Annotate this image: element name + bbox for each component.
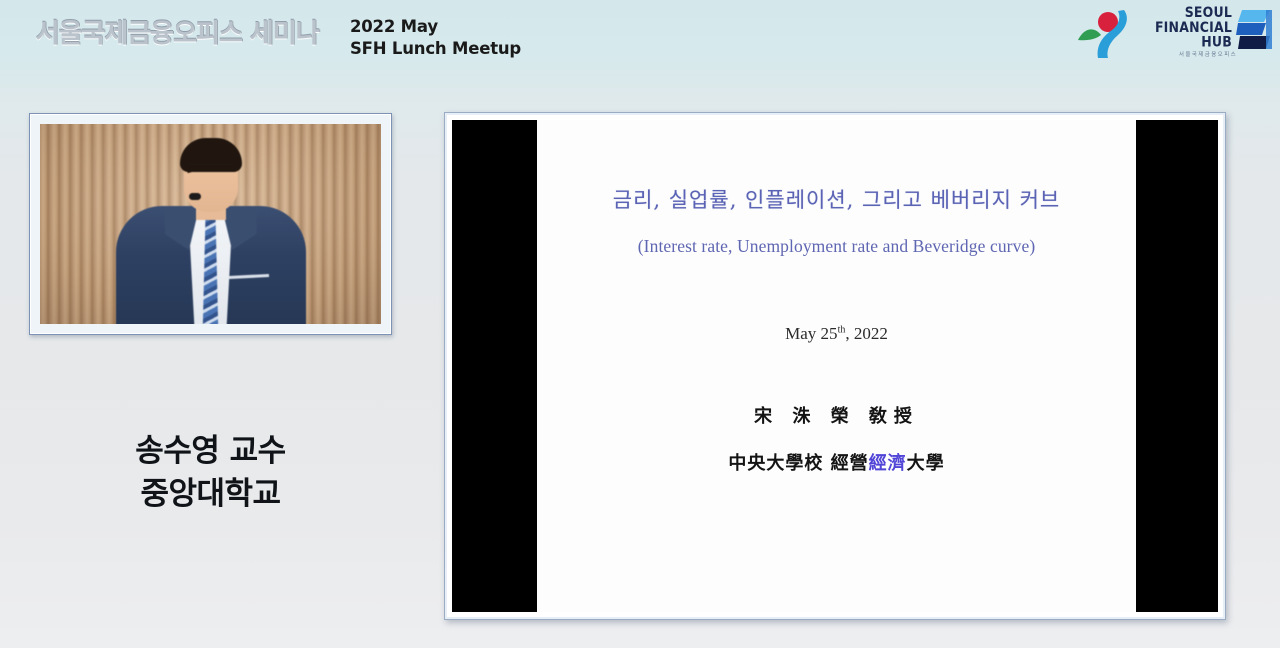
slide-author-affiliation: 中央大學校 經營經濟大學 <box>728 449 944 475</box>
affiliation-highlight: 經濟 <box>869 453 907 474</box>
event-title-line2: SFH Lunch Meetup <box>350 38 521 60</box>
video-blur-overlay <box>40 124 381 324</box>
sfh-s-mark-icon <box>1236 7 1274 51</box>
sfh-logo-subtext: 서울국제금융오피스 <box>1152 50 1264 58</box>
slide-letterbox-stage: 금리, 실업률, 인플레이션, 그리고 베버리지 커브 (Interest ra… <box>452 120 1218 612</box>
event-title-line1: 2022 May <box>350 16 521 38</box>
event-title-block: 2022 May SFH Lunch Meetup <box>350 16 521 61</box>
affiliation-text-part2: 大學 <box>907 453 945 474</box>
seminar-logo-text: 서울국제금융오피스 세미나 <box>42 14 312 48</box>
speaker-caption: 송수영 교수 중앙대학교 <box>29 430 392 516</box>
slide-author-name: 宋 洙 榮 敎授 <box>754 402 919 428</box>
speaker-video-image <box>40 124 381 324</box>
seoul-city-logo-icon <box>1074 6 1140 60</box>
speaker-name: 송수영 교수 <box>29 430 392 473</box>
affiliation-text-part1: 中央大學校 經營 <box>728 453 868 474</box>
slide-content: 금리, 실업률, 인플레이션, 그리고 베버리지 커브 (Interest ra… <box>537 120 1136 612</box>
slide-date-prefix: May 25 <box>785 324 837 343</box>
sfh-logo-wordmark: SEOUL FINANCIAL HUB <box>1152 6 1232 49</box>
slide-date: May 25th, 2022 <box>785 324 888 344</box>
presentation-slide-panel[interactable]: 금리, 실업률, 인플레이션, 그리고 베버리지 커브 (Interest ra… <box>444 112 1226 620</box>
seoul-financial-hub-logo: SEOUL FINANCIAL HUB 서울국제금융오피스 <box>1152 4 1274 62</box>
slide-title-korean: 금리, 실업률, 인플레이션, 그리고 베버리지 커브 <box>613 184 1060 214</box>
sfh-logo-line3: HUB <box>1152 35 1232 49</box>
slide-date-suffix: , 2022 <box>845 324 888 343</box>
slide-title-english: (Interest rate, Unemployment rate and Be… <box>638 236 1036 257</box>
page-header: 서울국제금융오피스 세미나 2022 May SFH Lunch Meetup … <box>0 0 1280 88</box>
speaker-video-thumbnail[interactable] <box>29 113 392 335</box>
speaker-affiliation: 중앙대학교 <box>29 473 392 516</box>
